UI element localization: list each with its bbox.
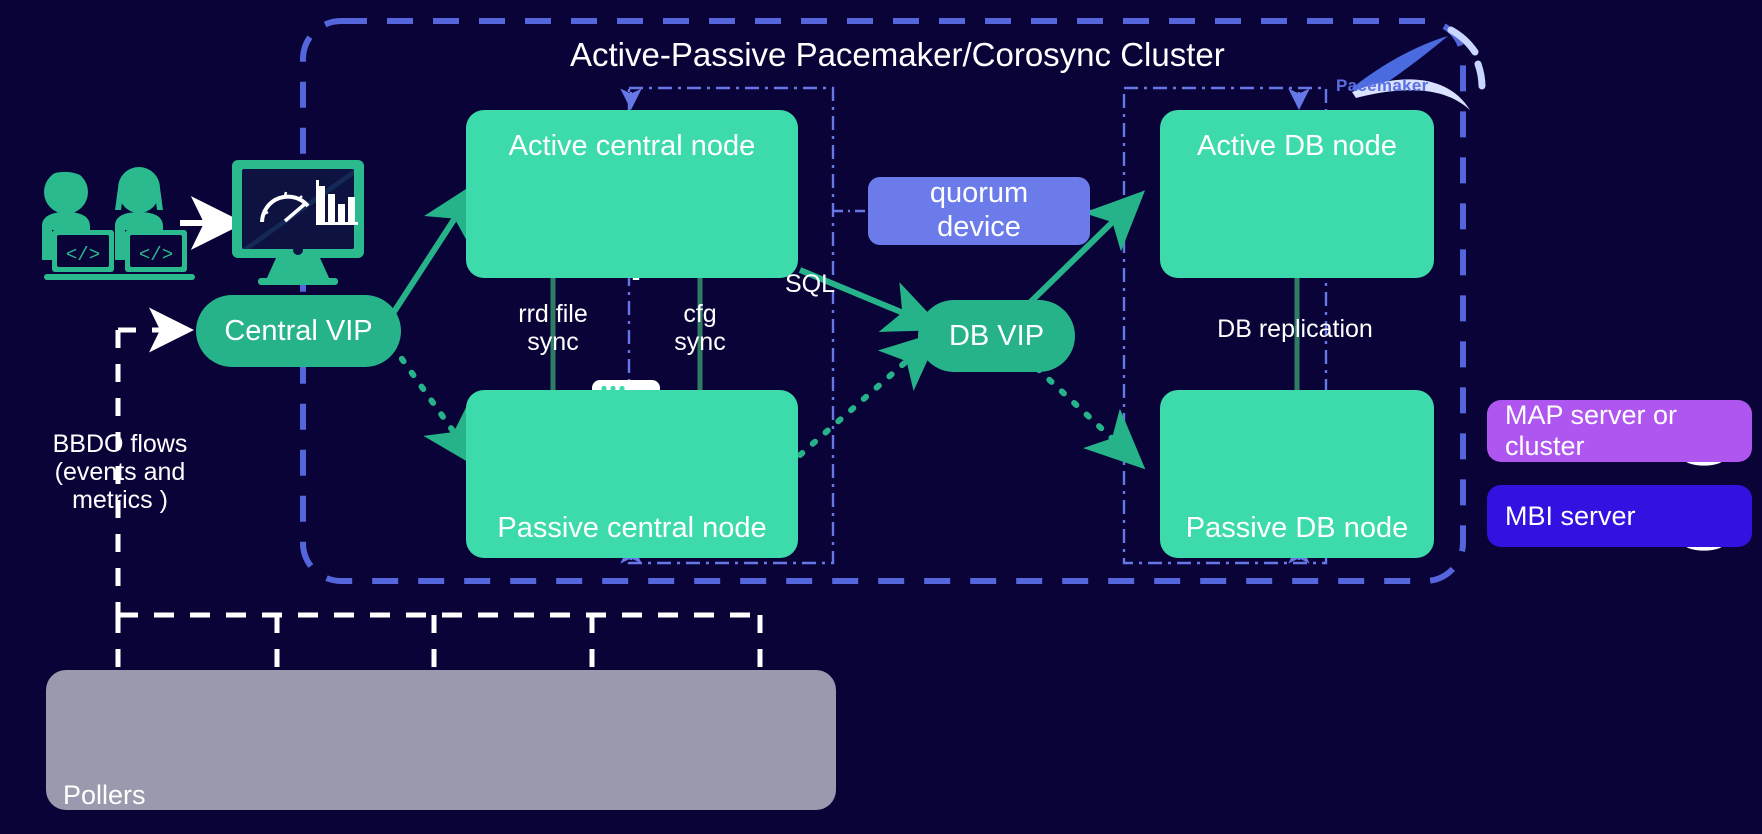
legend-mbi-server-label: MBI server	[1505, 501, 1688, 532]
monitoring-dashboard-icon	[232, 160, 364, 285]
passive-central-node[interactable]: Passive central node	[466, 390, 798, 558]
svg-text:</>: </>	[139, 244, 173, 266]
passive-db-node-label: Passive DB node	[1160, 512, 1434, 545]
cfg-sync-label: cfg sync	[620, 300, 780, 356]
arrow-vip-to-active-central	[390, 198, 468, 318]
legend-map-server-label: MAP server or cluster	[1505, 400, 1688, 462]
db-replication-label: DB replication	[1140, 315, 1450, 343]
passive-central-node-label: Passive central node	[466, 512, 798, 545]
passive-db-node[interactable]: Passive DB node	[1160, 390, 1434, 558]
svg-text:</>: </>	[66, 244, 100, 266]
db-vip-label: DB VIP	[949, 320, 1044, 353]
legend-item-mbi-server[interactable]: MBI server	[1487, 485, 1752, 547]
diagram-canvas: </> </>	[0, 0, 1762, 834]
pollers-group[interactable]	[46, 670, 836, 810]
central-vip-label: Central VIP	[224, 315, 372, 348]
bbdo-flows-label: BBDO flows (events and metrics )	[20, 430, 220, 514]
active-central-node-label: Active central node	[466, 130, 798, 163]
pacemaker-logo-label: Pacemaker	[1336, 76, 1429, 96]
sql-label: SQL	[770, 270, 850, 298]
active-central-node[interactable]: Active central node	[466, 110, 798, 278]
arrow-passive-central-to-dbvip	[800, 345, 925, 455]
active-db-node[interactable]: Active DB node	[1160, 110, 1434, 278]
db-vip-node[interactable]: DB VIP	[918, 300, 1075, 372]
quorum-device-label-line1: quorum	[930, 177, 1028, 211]
quorum-device-label-line2: device	[937, 211, 1021, 245]
arrow-vip-to-passive-central	[392, 345, 468, 452]
pollers-label: Pollers	[63, 780, 146, 811]
user-developer-icon: </>	[40, 158, 122, 280]
page-title: Active-Passive Pacemaker/Corosync Cluste…	[570, 36, 1225, 74]
quorum-device-node[interactable]: quorum device	[868, 177, 1090, 245]
central-vip-node[interactable]: Central VIP	[196, 295, 401, 367]
legend-item-map-server[interactable]: MAP server or cluster	[1487, 400, 1752, 462]
active-db-node-label: Active DB node	[1160, 130, 1434, 163]
rrd-sync-label: rrd file sync	[473, 300, 633, 356]
